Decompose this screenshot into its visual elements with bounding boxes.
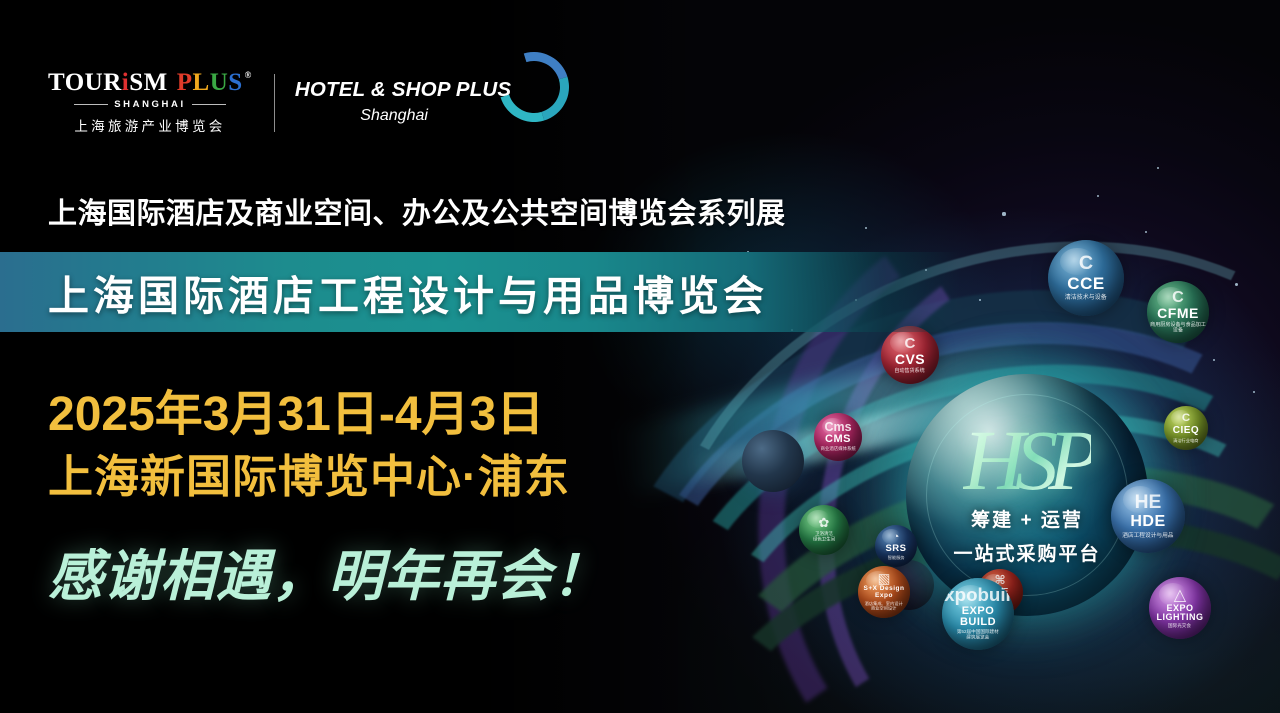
rule-right	[192, 104, 226, 105]
hotel-shop-plus-city: Shanghai	[295, 107, 511, 125]
orbit-badge-6[interactable]: ✿卫浴清洁 绿色卫生间	[799, 505, 849, 555]
tp-text-u: U	[210, 70, 229, 95]
orbit-badge-hde[interactable]: HEHDE酒店工程设计与用品	[1111, 479, 1185, 553]
registered-mark-icon: ®	[245, 71, 252, 80]
tourism-plus-rule: SHANGHAI	[74, 99, 226, 110]
badge-mark-icon: Cms	[824, 421, 851, 433]
orbit-badge-s-x-design-expo[interactable]: ▧S+X Design Expo酒店集成、室内设计 商业空间设计	[858, 566, 910, 618]
badge-mark-icon: ✿	[819, 516, 830, 529]
hotel-shop-plus-logo[interactable]: HOTEL & SHOP PLUS Shanghai	[295, 80, 563, 125]
badge-code: HDE	[1130, 514, 1165, 530]
badge-subtitle: 商用厨房设备与食品加工设备	[1149, 323, 1206, 335]
badge-code: CIEQ	[1173, 426, 1199, 436]
star-speck	[1213, 359, 1215, 361]
event-venue: 上海新国际博览中心·浦东	[48, 440, 570, 505]
badge-mark-icon: HE	[1135, 493, 1162, 512]
badge-subtitle: 商业酒店媒体系统	[820, 448, 855, 453]
badge-code: S+X Design Expo	[858, 586, 910, 599]
badge-mark-icon: C	[1182, 413, 1190, 424]
rule-left	[74, 104, 108, 105]
star-speck	[1002, 212, 1005, 215]
series-title: 上海国际酒店及商业空间、办公及公共空间博览会系列展	[48, 190, 786, 232]
orbit-badge-cce[interactable]: CCCE清洁技术与设备	[1048, 240, 1124, 316]
badge-subtitle: 清洁行业电商	[1173, 438, 1198, 443]
headline-bar: 上海国际酒店工程设计与用品博览会	[0, 252, 960, 332]
badge-subtitle: 自动售货系统	[895, 368, 925, 374]
star-speck	[1097, 195, 1099, 197]
tp-text-p: P	[177, 70, 193, 95]
badge-subtitle: 智能服务	[888, 555, 905, 560]
tp-text-sm: SM	[129, 70, 168, 95]
headline-title: 上海国际酒店工程设计与用品博览会	[48, 262, 768, 322]
badge-subtitle: 酒店工程设计与用品	[1122, 532, 1173, 539]
tourism-plus-chinese-name: 上海旅游产业博览会	[74, 115, 225, 135]
badge-mark-icon: △	[1174, 587, 1186, 603]
tp-text-tour: TOUR	[48, 70, 122, 95]
orbit-badge-srs[interactable]: ◔SRS智能服务	[875, 525, 917, 567]
orbit-badge-expo-lighting[interactable]: △EXPO LIGHTING国际光交会	[1149, 577, 1211, 639]
badge-mark-icon: ◔	[893, 532, 900, 543]
tourism-plus-logo[interactable]: TOURiSMPLUS® SHANGHAI 上海旅游产业博览会	[48, 70, 274, 135]
orbit-badge-cfme[interactable]: CCFME商用厨房设备与食品加工设备	[1147, 281, 1209, 343]
star-speck	[1235, 283, 1238, 286]
badge-code: CCE	[1067, 275, 1104, 292]
badge-code: CMS	[825, 434, 851, 445]
badge-code: CFME	[1157, 306, 1199, 320]
tourism-plus-wordmark: TOURiSMPLUS®	[48, 70, 252, 95]
content-column: TOURiSMPLUS® SHANGHAI 上海旅游产业博览会 HOTEL & …	[0, 0, 700, 713]
badge-code: CVS	[895, 352, 925, 366]
badge-subtitle: 国际光交会	[1168, 624, 1191, 629]
event-dates: 2025年3月31日-4月3日	[48, 374, 544, 444]
planet-blue	[742, 430, 804, 492]
orbit-badge-cms[interactable]: CmsCMS商业酒店媒体系统	[814, 413, 862, 461]
badge-code: EXPO LIGHTING	[1149, 604, 1211, 622]
closing-slogan: 感谢相遇，明年再会！	[48, 531, 608, 611]
tp-text-i: i	[122, 70, 129, 95]
badge-subtitle: 清洁技术与设备	[1065, 294, 1107, 301]
logo-divider	[274, 74, 275, 132]
badge-code: SRS	[885, 544, 906, 554]
badge-mark-icon: C	[1079, 254, 1093, 274]
tp-text-s: S	[228, 70, 242, 95]
banner-stage: HSP 筹建 + 运营 一站式采购平台 CCCE清洁技术与设备CCFME商用厨房…	[0, 0, 1280, 713]
orbit-badge-cvs[interactable]: CCVS自动售货系统	[881, 326, 939, 384]
badge-subtitle: 卫浴清洁 绿色卫生间	[813, 533, 835, 543]
orbit-badge-cieq[interactable]: CCIEQ清洁行业电商	[1164, 406, 1208, 450]
badge-mark-icon: expobuild	[942, 586, 1014, 605]
badge-mark-icon: ▧	[878, 572, 891, 586]
badge-mark-icon: C	[1172, 289, 1184, 305]
badge-code: EXPO BUILD	[942, 606, 1014, 628]
orbit-badge-expo-build[interactable]: expobuildEXPO BUILD第52届中国国际建材 建筑展览会	[942, 578, 1014, 650]
core-sphere-ring	[926, 394, 1128, 596]
badge-mark-icon: C	[905, 336, 916, 351]
tourism-plus-city: SHANGHAI	[114, 99, 185, 110]
logo-lockup[interactable]: TOURiSMPLUS® SHANGHAI 上海旅游产业博览会 HOTEL & …	[48, 70, 563, 135]
badge-subtitle: 酒店集成、室内设计 商业空间设计	[865, 602, 903, 612]
hotel-shop-plus-wordmark: HOTEL & SHOP PLUS	[295, 80, 511, 101]
tp-text-l: L	[193, 70, 210, 95]
badge-subtitle: 第52届中国国际建材 建筑展览会	[957, 631, 999, 642]
